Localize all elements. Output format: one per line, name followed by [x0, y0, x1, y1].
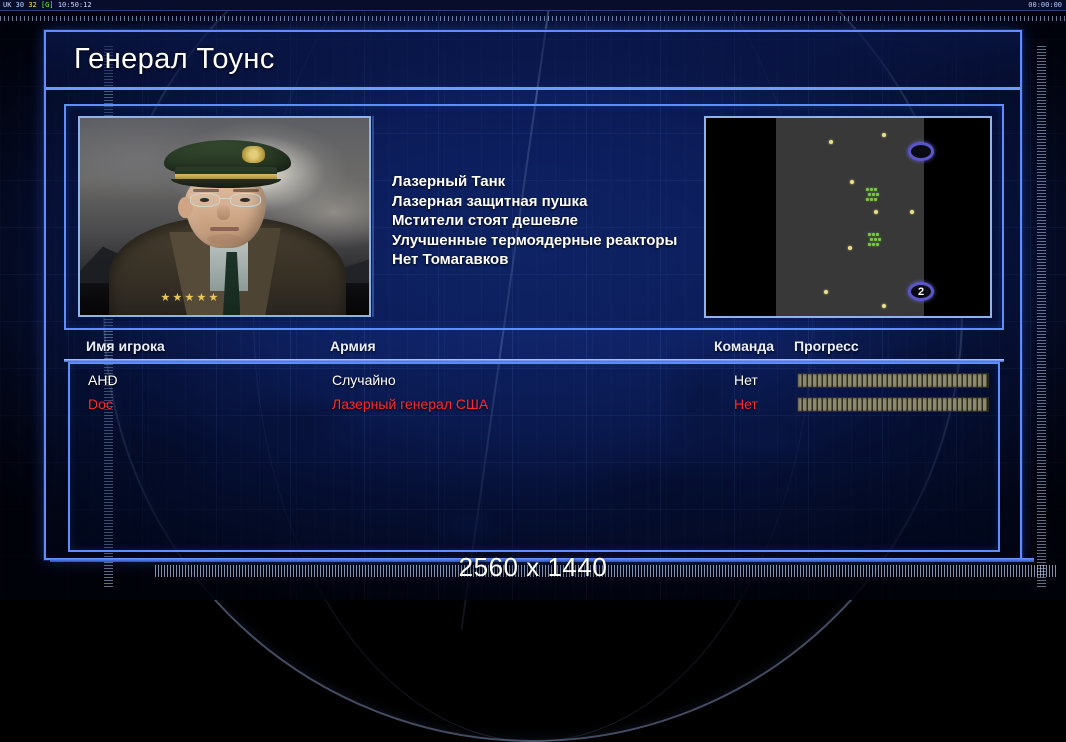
map-tree-dot	[870, 238, 873, 241]
map-tree-dot	[866, 198, 869, 201]
ability-line: Лазерная защитная пушка	[392, 192, 692, 212]
map-resource-dot	[882, 304, 886, 308]
player-list-panel: AHDСлучайноНетDocЛазерный генерал СШАНет	[68, 362, 1000, 552]
column-header-army: Армия	[330, 338, 376, 354]
ability-line: Улучшенные термоядерные реакторы	[392, 231, 692, 251]
resolution-label: 2560 x 1440	[0, 552, 1066, 583]
map-preview[interactable]: 2	[704, 116, 992, 318]
player-team-cell: Нет	[734, 396, 758, 412]
ability-line: Мстители стоят дешевле	[392, 211, 692, 231]
column-header-progress: Прогресс	[794, 338, 859, 354]
player-table-header-row: Имя игрока Армия Команда Прогресс	[64, 338, 1004, 360]
map-tree-dot	[870, 188, 873, 191]
portrait-brow-left	[193, 189, 219, 192]
map-resource-dot	[910, 210, 914, 214]
map-tree-dot	[870, 198, 873, 201]
map-tree-dot	[866, 188, 869, 191]
player-name-cell: Doc	[88, 396, 113, 412]
map-tree-dot	[878, 238, 881, 241]
map-tree-dot	[872, 243, 875, 246]
map-resource-dot	[829, 140, 833, 144]
map-tree-dot	[874, 198, 877, 201]
status-part-flag: [G]	[41, 1, 54, 9]
ruler-right	[1037, 46, 1046, 588]
player-army-cell: Лазерный генерал США	[332, 396, 488, 412]
status-part-num1: 30	[16, 1, 24, 9]
portrait-cap-badge-icon	[242, 146, 265, 164]
player-army-cell: Случайно	[332, 372, 396, 388]
portrait-chin	[207, 234, 242, 244]
map-start-position-marker[interactable]: 2	[908, 282, 934, 301]
table-row[interactable]: DocЛазерный генерал СШАНет	[70, 394, 1002, 418]
map-resource-dot	[824, 290, 828, 294]
ruler-top	[0, 16, 1066, 21]
status-part-time: 10:50:12	[58, 1, 92, 9]
player-team-cell: Нет	[734, 372, 758, 388]
title-bar: Генерал Тоунс	[46, 32, 1020, 90]
ability-line: Лазерный Танк	[392, 172, 692, 192]
map-tree-dot	[874, 238, 877, 241]
info-panel-divider	[372, 116, 374, 317]
table-row[interactable]: AHDСлучайноНет	[70, 370, 1002, 394]
player-name-cell: AHD	[88, 372, 118, 388]
map-playable-area: 2	[776, 118, 924, 316]
map-tree-dot	[868, 233, 871, 236]
map-resource-dot	[882, 133, 886, 137]
status-part-num2: 32	[28, 1, 36, 9]
map-tree-dot	[872, 193, 875, 196]
portrait-brow-right	[233, 189, 259, 192]
status-part-region: UK	[3, 1, 11, 9]
map-resource-dot	[848, 246, 852, 250]
map-tree-dot	[876, 193, 879, 196]
map-start-position-marker[interactable]	[908, 142, 934, 161]
portrait-mouth	[210, 227, 239, 231]
general-portrait	[78, 116, 371, 317]
map-resource-dot	[850, 180, 854, 184]
player-progress-bar	[797, 373, 989, 388]
general-ability-list: Лазерный Танк Лазерная защитная пушка Мс…	[392, 172, 692, 270]
portrait-nose	[217, 205, 230, 221]
map-tree-dot	[876, 243, 879, 246]
map-tree-dot	[876, 233, 879, 236]
top-status-bar: UK 30 32 [G] 10:50:12 00:00:00	[0, 0, 1066, 11]
portrait-glasses-bridge	[220, 198, 232, 200]
page-title: Генерал Тоунс	[74, 43, 275, 76]
column-header-team: Команда	[714, 338, 774, 354]
map-resource-dot	[874, 210, 878, 214]
map-tree-dot	[874, 188, 877, 191]
map-tree-dot	[872, 233, 875, 236]
map-tree-dot	[868, 193, 871, 196]
portrait-rank-stars	[161, 289, 253, 305]
network-status-text: UK 30 32 [G] 10:50:12	[3, 1, 92, 10]
player-progress-bar	[797, 397, 989, 412]
column-header-player-name: Имя игрока	[86, 338, 165, 354]
game-timer: 00:00:00	[1028, 1, 1062, 10]
ability-line: Нет Томагавков	[392, 250, 692, 270]
map-tree-dot	[868, 243, 871, 246]
